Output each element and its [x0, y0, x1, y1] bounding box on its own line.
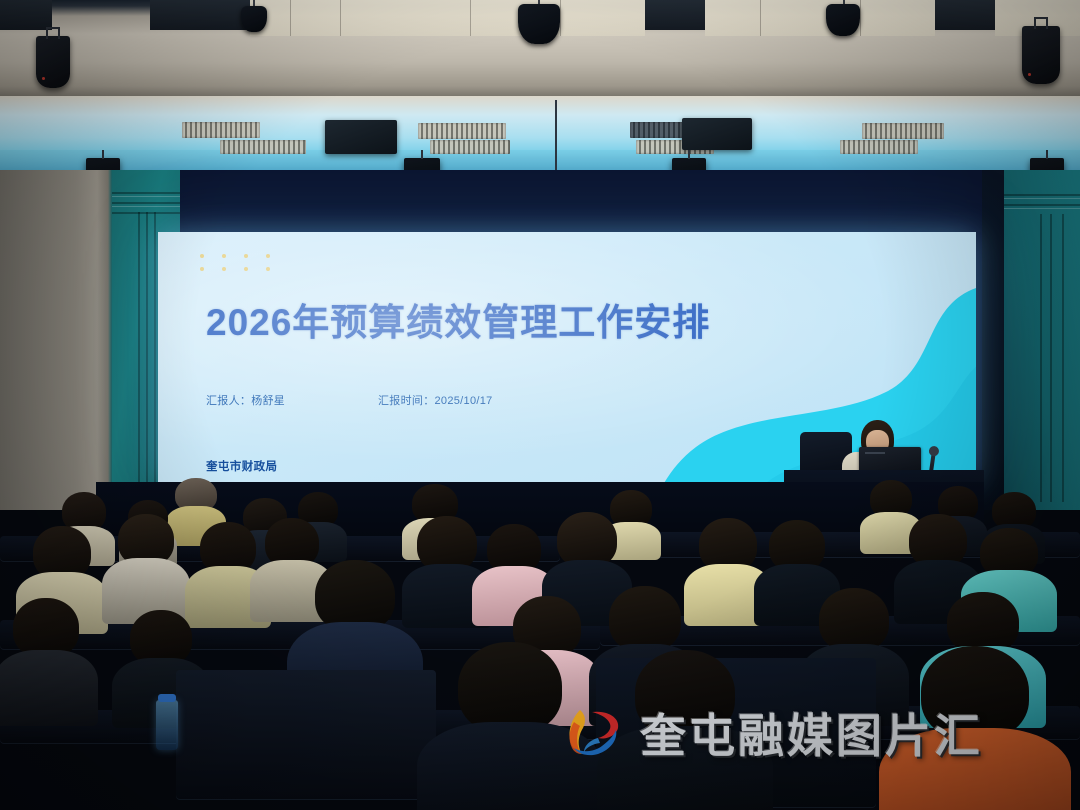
- air-conditioning-vent: [430, 140, 510, 154]
- bench-row: [176, 670, 436, 800]
- slide-dot-grid: [200, 254, 288, 280]
- audience-area: [0, 470, 1080, 810]
- wall-speaker: [36, 36, 70, 88]
- hanging-speaker: [826, 4, 860, 36]
- led-presentation-screen: 2026年预算绩效管理工作安排 汇报人：杨舒星 汇报时间：2025/10/17 …: [158, 232, 976, 482]
- audience-member: [610, 650, 760, 810]
- right-wall-panel: [1004, 170, 1080, 510]
- slide-presenter: 汇报人：杨舒星: [206, 392, 378, 408]
- conference-hall-photo: 2026年预算绩效管理工作安排 汇报人：杨舒星 汇报时间：2025/10/17 …: [0, 0, 1080, 810]
- hanging-speaker: [241, 6, 267, 32]
- air-conditioning-vent: [220, 140, 306, 154]
- ceiling-panel: [325, 120, 397, 154]
- audience-member: [108, 514, 184, 614]
- ceiling-panel: [682, 118, 752, 150]
- slide-meta: 汇报人：杨舒星 汇报时间：2025/10/17: [206, 392, 493, 408]
- air-conditioning-vent: [862, 123, 944, 139]
- hanging-speaker: [518, 4, 560, 44]
- slide-title: 2026年预算绩效管理工作安排: [206, 304, 710, 341]
- air-conditioning-vent: [418, 123, 506, 139]
- audience-member: [892, 646, 1058, 810]
- audience-member: [0, 598, 92, 716]
- water-bottle: [156, 700, 178, 750]
- slide-report-time: 汇报时间：2025/10/17: [378, 392, 493, 408]
- wall-speaker: [1022, 26, 1060, 84]
- air-conditioning-vent: [840, 140, 918, 154]
- air-conditioning-vent: [182, 122, 260, 138]
- audience-member: [430, 642, 590, 810]
- slide-wave-decoration: [586, 242, 976, 482]
